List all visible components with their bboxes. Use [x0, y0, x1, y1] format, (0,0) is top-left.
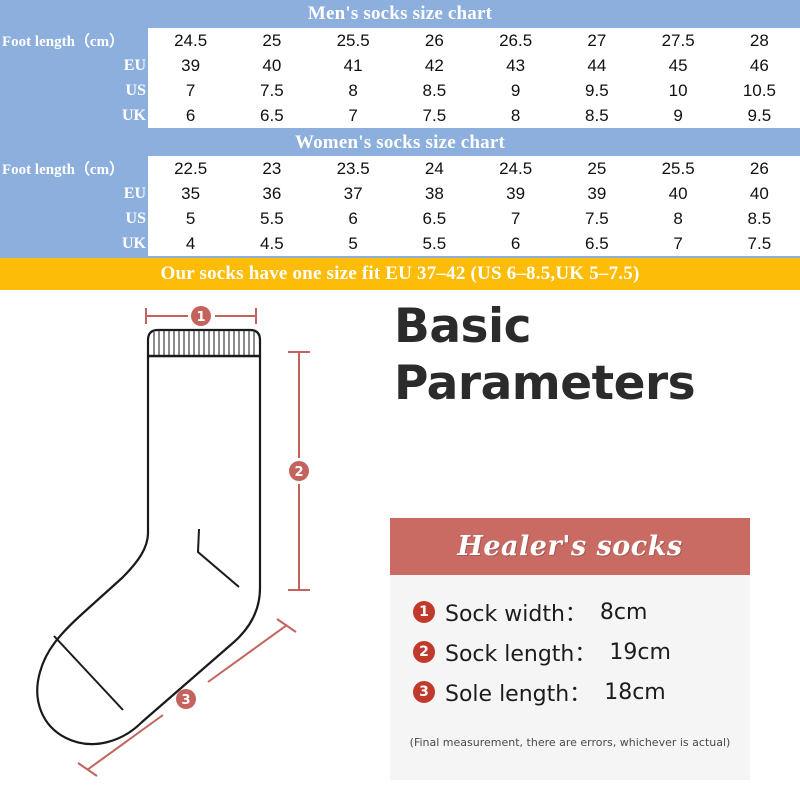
cell: 25 — [231, 28, 312, 53]
size-chart-section: Men's socks size chart Foot length（cm） 2… — [0, 0, 800, 290]
spec-badge-1: 1 — [413, 601, 435, 623]
promo-banner: Our socks have one size fit EU 37–42 (US… — [0, 258, 800, 290]
table-row: Foot length（cm） 22.5 23 23.5 24 24.5 25 … — [0, 156, 800, 181]
row-label-foot-length: Foot length（cm） — [0, 28, 150, 53]
spec-row-sock-length: 2 Sock length： 19cm — [413, 636, 671, 668]
cell: 6.5 — [231, 103, 312, 128]
cell: 22.5 — [150, 156, 231, 181]
cell: 5.5 — [394, 231, 475, 256]
brand-name: Healer's socks — [457, 531, 682, 562]
cell: 26.5 — [475, 28, 556, 53]
spec-label-sock-width: Sock width： — [445, 596, 587, 628]
cell: 10.5 — [719, 78, 800, 103]
spec-card-header: Healer's socks — [390, 518, 750, 575]
row-label-us: US — [0, 78, 150, 103]
cell: 6.5 — [394, 206, 475, 231]
cell: 36 — [231, 181, 312, 206]
cell: 24.5 — [475, 156, 556, 181]
row-label-uk: UK — [0, 231, 150, 256]
cell: 4.5 — [231, 231, 312, 256]
cell: 38 — [394, 181, 475, 206]
mens-size-table: Foot length（cm） 24.5 25 25.5 26 26.5 27 … — [0, 28, 800, 128]
cell: 10 — [638, 78, 719, 103]
promo-text: Our socks have one size fit EU 37–42 (US… — [161, 263, 640, 285]
parameters-column: Basic Parameters Healer's socks 1 Sock w… — [386, 290, 800, 800]
cell: 43 — [475, 53, 556, 78]
cell: 8.5 — [556, 103, 637, 128]
cell: 45 — [638, 53, 719, 78]
sock-outline — [37, 356, 260, 744]
row-label-uk: UK — [0, 103, 150, 128]
dimension-badge-1-label: 1 — [196, 310, 205, 325]
cell: 5.5 — [231, 206, 312, 231]
cell: 7.5 — [556, 206, 637, 231]
spec-value-sock-length: 19cm — [609, 640, 671, 665]
spec-badge-2: 2 — [413, 641, 435, 663]
cell: 7 — [638, 231, 719, 256]
cell: 4 — [150, 231, 231, 256]
cell: 40 — [719, 181, 800, 206]
cell: 28 — [719, 28, 800, 53]
cell: 8.5 — [719, 206, 800, 231]
table-row: UK 6 6.5 7 7.5 8 8.5 9 9.5 — [0, 103, 800, 128]
cell: 8.5 — [394, 78, 475, 103]
cell: 27.5 — [638, 28, 719, 53]
cell: 23.5 — [313, 156, 394, 181]
page-title: Basic Parameters — [394, 298, 794, 412]
cuff-ribbing-icon — [154, 331, 254, 355]
dimension-badge-3-label: 3 — [181, 693, 190, 708]
cell: 39 — [150, 53, 231, 78]
sock-diagram: 1 2 3 — [10, 290, 380, 800]
cell: 26 — [394, 28, 475, 53]
womens-size-table: Foot length（cm） 22.5 23 23.5 24 24.5 25 … — [0, 156, 800, 256]
cell: 6 — [150, 103, 231, 128]
spec-value-sock-width: 8cm — [600, 600, 648, 625]
cell: 39 — [475, 181, 556, 206]
table-row: US 5 5.5 6 6.5 7 7.5 8 8.5 — [0, 206, 800, 231]
spec-label-sock-length: Sock length： — [445, 636, 596, 668]
page-title-line1: Basic — [394, 298, 794, 355]
cell: 44 — [556, 53, 637, 78]
womens-chart-title: Women's socks size chart — [0, 129, 800, 157]
cell: 9.5 — [719, 103, 800, 128]
cell: 7 — [150, 78, 231, 103]
page-title-line2: Parameters — [394, 355, 794, 412]
row-label-eu: EU — [0, 53, 150, 78]
cell: 6 — [475, 231, 556, 256]
table-row: EU 35 36 37 38 39 39 40 40 — [0, 181, 800, 206]
row-label-us: US — [0, 206, 150, 231]
cell: 8 — [475, 103, 556, 128]
cell: 8 — [313, 78, 394, 103]
cell: 7.5 — [394, 103, 475, 128]
cell: 25.5 — [313, 28, 394, 53]
spec-card: Healer's socks 1 Sock width： 8cm 2 Sock … — [390, 518, 750, 780]
cell: 25.5 — [638, 156, 719, 181]
row-label-foot-length: Foot length（cm） — [0, 156, 150, 181]
cell: 27 — [556, 28, 637, 53]
cell: 6.5 — [556, 231, 637, 256]
cell: 5 — [150, 206, 231, 231]
cell: 42 — [394, 53, 475, 78]
cell: 5 — [313, 231, 394, 256]
table-row: Foot length（cm） 24.5 25 25.5 26 26.5 27 … — [0, 28, 800, 53]
cell: 41 — [313, 53, 394, 78]
cell: 6 — [313, 206, 394, 231]
cell: 39 — [556, 181, 637, 206]
spec-badge-3: 3 — [413, 681, 435, 703]
table-row: US 7 7.5 8 8.5 9 9.5 10 10.5 — [0, 78, 800, 103]
dimension-badge-2-label: 2 — [294, 465, 303, 480]
cell: 9 — [638, 103, 719, 128]
row-label-eu: EU — [0, 181, 150, 206]
cell: 24.5 — [150, 28, 231, 53]
cell: 7 — [313, 103, 394, 128]
cell: 37 — [313, 181, 394, 206]
table-row: EU 39 40 41 42 43 44 45 46 — [0, 53, 800, 78]
cell: 7 — [475, 206, 556, 231]
spec-row-sole-length: 3 Sole length： 18cm — [413, 676, 666, 708]
cell: 23 — [231, 156, 312, 181]
cell: 7.5 — [719, 231, 800, 256]
cell: 8 — [638, 206, 719, 231]
cell: 26 — [719, 156, 800, 181]
spec-value-sole-length: 18cm — [604, 680, 666, 705]
cell: 46 — [719, 53, 800, 78]
cell: 9.5 — [556, 78, 637, 103]
basic-parameters-section: 1 2 3 — [0, 290, 800, 800]
spec-footnote: (Final measurement, there are errors, wh… — [390, 736, 750, 749]
cell: 9 — [475, 78, 556, 103]
cell: 40 — [231, 53, 312, 78]
spec-label-sole-length: Sole length： — [445, 676, 591, 708]
cell: 40 — [638, 181, 719, 206]
table-row: UK 4 4.5 5 5.5 6 6.5 7 7.5 — [0, 231, 800, 256]
cell: 25 — [556, 156, 637, 181]
cell: 35 — [150, 181, 231, 206]
spec-row-sock-width: 1 Sock width： 8cm — [413, 596, 647, 628]
cell: 24 — [394, 156, 475, 181]
cell: 7.5 — [231, 78, 312, 103]
mens-chart-title: Men's socks size chart — [0, 0, 800, 28]
